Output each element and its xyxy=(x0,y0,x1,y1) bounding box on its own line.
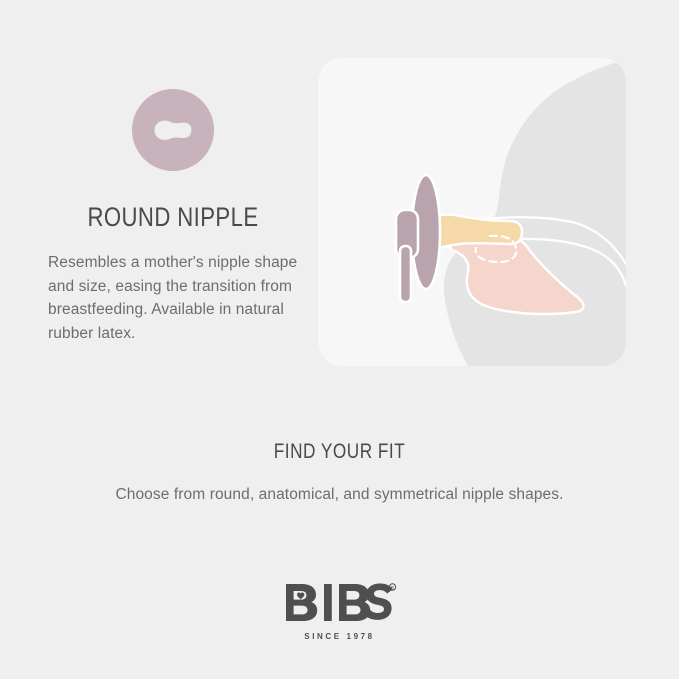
find-your-fit-section: FIND YOUR FIT Choose from round, anatomi… xyxy=(0,440,679,504)
head-silhouette xyxy=(444,58,626,366)
feature-title: ROUND NIPPLE xyxy=(71,202,276,233)
feature-section: ROUND NIPPLE Resembles a mother's nipple… xyxy=(0,0,679,400)
svg-text:R: R xyxy=(390,585,393,590)
page-root: ROUND NIPPLE Resembles a mother's nipple… xyxy=(0,0,679,679)
illustration-card xyxy=(318,58,626,366)
round-nipple-silhouette-icon xyxy=(132,89,214,171)
bibs-logo: R xyxy=(284,582,396,627)
feature-column: ROUND NIPPLE Resembles a mother's nipple… xyxy=(48,80,298,345)
pacifier-handle xyxy=(396,210,418,302)
find-your-fit-title: FIND YOUR FIT xyxy=(61,440,618,464)
feature-badge-wrap xyxy=(48,80,298,180)
brand-tagline: SINCE 1978 xyxy=(0,632,679,641)
brand-logo-block: R SINCE 1978 xyxy=(0,582,679,641)
feature-description: Resembles a mother's nipple shape and si… xyxy=(48,251,298,345)
pacifier-fit-illustration xyxy=(318,58,626,366)
find-your-fit-subtitle: Choose from round, anatomical, and symme… xyxy=(0,486,679,504)
